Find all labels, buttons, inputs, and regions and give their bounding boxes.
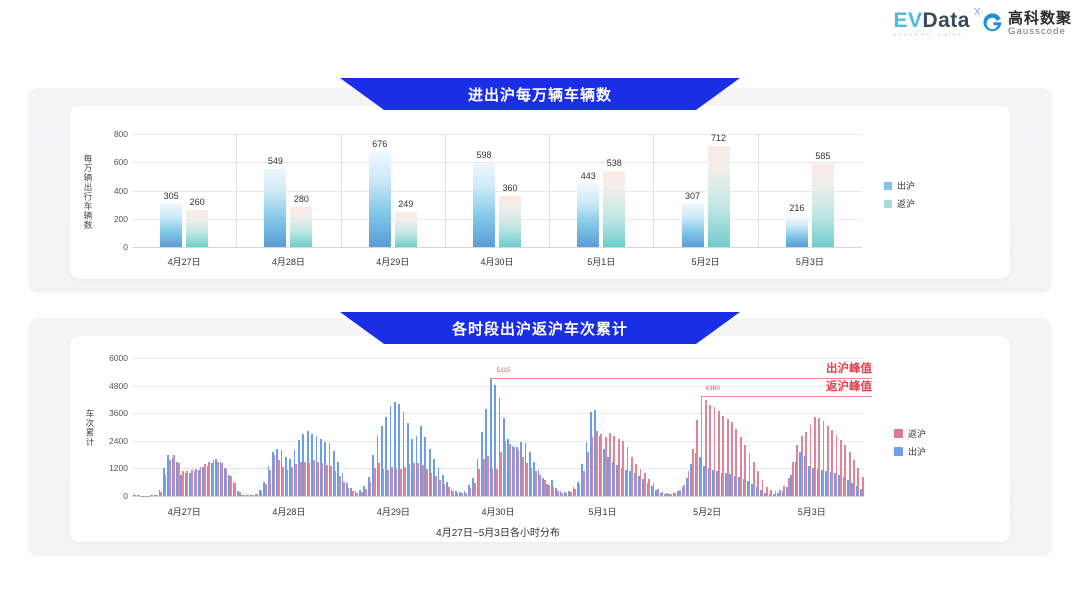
chart2-x-tick-label: 5月3日: [798, 505, 826, 518]
chart2-bar-return: [683, 485, 685, 496]
chart2-bar-return: [561, 493, 563, 496]
chart2-legend: 返沪出沪: [894, 427, 926, 458]
chart2-bar-return: [757, 471, 759, 496]
chart2-bar-return: [714, 407, 716, 496]
chart2-bar-return: [701, 396, 703, 496]
chart2-bar-return: [618, 439, 620, 497]
chart1-legend: 出沪返沪: [884, 179, 915, 210]
chart2-bar-return: [217, 462, 219, 497]
chart1-legend-item[interactable]: 出沪: [884, 179, 915, 192]
chart1-bar-value-label: 443: [581, 171, 596, 181]
chart1-category-separator: [758, 134, 759, 247]
chart1-bar-return: [499, 196, 521, 247]
chart2-y-tick-label: 0: [96, 491, 128, 501]
evdata-wordmark: EVDatax: [893, 10, 970, 31]
chart-panel-2: 车次累计0120024003600480060004月27日4月28日4月29日…: [70, 336, 1010, 542]
chart1-bar-value-label: 305: [164, 191, 179, 201]
chart2-bar-return: [531, 468, 533, 496]
chart2-bar-return: [727, 419, 729, 496]
chart2-annotation-label: 出沪峰值: [826, 360, 872, 376]
chart2-bar-return: [583, 471, 585, 496]
chart2-bar-return: [435, 476, 437, 496]
chart2-bar-return: [295, 464, 297, 496]
chart1-bar-value-label: 249: [398, 199, 413, 209]
chart1-bar-return: [812, 164, 834, 247]
chart1-y-axis-label: 每万辆出行车辆数: [82, 140, 94, 243]
chart2-bar-return: [239, 492, 241, 496]
chart1-legend-label: 返沪: [897, 197, 915, 210]
chart2-bar-return: [666, 493, 668, 496]
chart1-bar-value-label: 216: [789, 203, 804, 213]
evdata-tagline: SHANGHAI CHINA: [893, 33, 963, 38]
chart2-bar-return: [526, 463, 528, 496]
chart1-bar-return: [708, 146, 730, 247]
chart2-bar-return: [208, 462, 210, 497]
chart2-bar-return: [165, 475, 167, 496]
chart-panel-1: 每万辆出行车辆数02004006008003052604月27日5492804月…: [70, 106, 1010, 279]
chart2-bar-return: [391, 467, 393, 496]
chart1-y-tick-label: 800: [98, 129, 128, 139]
chart1-bar-value-label: 260: [190, 197, 205, 207]
chart2-bar-return: [483, 459, 485, 496]
chart1-x-tick-label: 4月27日: [168, 255, 201, 268]
chart2-bar-return: [796, 445, 798, 496]
chart2-bar-return: [613, 436, 615, 496]
chart2-bar-return: [282, 467, 284, 496]
chart2-bar-return: [705, 400, 707, 496]
chart2-bar-return: [221, 463, 223, 496]
header-logo-bar: EVDatax SHANGHAI CHINA 高科数聚 Gausscode: [893, 10, 1072, 38]
chart1-bar-outbound: [264, 169, 286, 247]
gausscode-cn-name: 高科数聚: [1008, 11, 1072, 27]
chart2-y-tick-label: 3600: [96, 408, 128, 418]
chart1-bar-outbound: [473, 163, 495, 247]
chart2-bar-return: [444, 484, 446, 496]
chart1-gridline: [132, 219, 862, 220]
chart1-bar-return: [603, 171, 625, 247]
chart2-bar-return: [788, 478, 790, 496]
chart1-gridline: [132, 191, 862, 192]
gausscode-text: 高科数聚 Gausscode: [1008, 11, 1072, 37]
card-outbound-per-10k: 每万辆出行车辆数02004006008003052604月27日5492804月…: [28, 88, 1052, 293]
chart2-bar-return: [762, 480, 764, 496]
gausscode-logo: 高科数聚 Gausscode: [982, 11, 1072, 37]
chart2-bar-return: [452, 491, 454, 496]
chart2-bar-return: [674, 493, 676, 496]
chart2-bar-return: [304, 462, 306, 497]
chart2-bar-return: [831, 430, 833, 496]
chart2-bar-return: [326, 465, 328, 496]
chart2-x-tick-label: 4月27日: [168, 505, 201, 518]
chart1-bar-value-label: 280: [294, 194, 309, 204]
chart1-y-tick-label: 200: [98, 214, 128, 224]
chart2-bar-return: [539, 475, 541, 496]
chart1-bar-return: [186, 210, 208, 247]
chart2-bar-return: [587, 452, 589, 496]
evdata-logo: EVDatax SHANGHAI CHINA: [893, 10, 970, 38]
chart2-bar-return: [770, 490, 772, 496]
chart2-legend-label: 返沪: [908, 427, 926, 440]
chart2-gridline: [132, 358, 864, 359]
chart2-bar-return: [413, 463, 415, 496]
chart1-category-separator: [549, 134, 550, 247]
chart2-y-tick-label: 6000: [96, 353, 128, 363]
chart1-category-separator: [341, 134, 342, 247]
chart1-x-tick-label: 5月3日: [796, 255, 824, 268]
chart2-bar-return: [265, 484, 267, 496]
chart2-bar-return: [343, 482, 345, 496]
chart2-bar-return: [579, 484, 581, 496]
evdata-main-text: Data: [922, 9, 970, 32]
chart1-bar-outbound: [160, 204, 182, 247]
gausscode-mark-icon: [982, 13, 1003, 34]
chart1-gridline: [132, 162, 862, 163]
chart2-bar-return: [696, 420, 698, 496]
chart2-bar-return: [810, 425, 812, 496]
chart2-bar-return: [230, 476, 232, 496]
chart2-bar-return: [805, 432, 807, 496]
chart2-bar-return: [600, 434, 602, 496]
chart2-bar-return: [269, 470, 271, 496]
chart2-bar-return: [396, 468, 398, 496]
chart2-bar-return: [287, 470, 289, 496]
chart2-bar-return: [749, 453, 751, 496]
chart2-bar-return: [827, 426, 829, 496]
chart1-bar-value-label: 598: [476, 150, 491, 160]
chart2-bar-return: [439, 480, 441, 496]
chart1-bar-outbound: [577, 184, 599, 247]
chart2-bar-return: [178, 463, 180, 496]
chart2-bar-return: [317, 462, 319, 496]
chart2-bar-return: [173, 455, 175, 496]
chart2-bar-return: [361, 492, 363, 496]
chart2-bar-return: [801, 436, 803, 496]
chart1-gridline: [132, 247, 862, 248]
chart2-gridline: [132, 496, 864, 497]
chart2-bar-return: [191, 470, 193, 496]
chart2-bar-return: [261, 491, 263, 496]
chart2-bar-return: [844, 445, 846, 496]
gausscode-en-name: Gausscode: [1008, 27, 1072, 37]
chart1-category-separator: [445, 134, 446, 247]
chart1-x-tick-label: 4月28日: [272, 255, 305, 268]
chart2-bar-return: [836, 435, 838, 496]
chart2-bar-return: [278, 460, 280, 496]
chart1-bar-return: [395, 212, 417, 247]
chart2-annotation-value: 5115: [496, 367, 510, 374]
chart2-bar-return: [313, 460, 315, 496]
chart-hourly-cumulative: 车次累计0120024003600480060004月27日4月28日4月29日…: [70, 336, 1010, 542]
chart2-bar-return: [387, 470, 389, 496]
chart2-bar-return: [457, 493, 459, 496]
chart-title-2: 各时段出沪返沪车次累计: [452, 318, 628, 339]
chart2-x-tick-label: 4月28日: [272, 505, 305, 518]
chart2-annotation-line: [491, 378, 872, 379]
chart2-bar-return: [722, 416, 724, 497]
chart2-bar-return: [404, 467, 406, 496]
chart2-bar-return: [840, 440, 842, 496]
chart2-bar-return: [818, 418, 820, 496]
chart1-bar-outbound: [682, 204, 704, 247]
chart1-legend-swatch: [884, 182, 892, 190]
chart2-bar-return: [753, 462, 755, 497]
chart2-bar-return: [356, 493, 358, 496]
chart-title-banner-2: 各时段出沪返沪车次累计: [340, 312, 740, 344]
chart1-x-tick-label: 4月30日: [480, 255, 513, 268]
chart2-bar-return: [657, 489, 659, 496]
chart2-bar-return: [335, 471, 337, 496]
chart2-bar-return: [670, 494, 672, 496]
chart2-bar-return: [627, 447, 629, 496]
chart2-bar-return: [430, 473, 432, 496]
chart2-bar-return: [505, 441, 507, 496]
chart1-x-tick-label: 4月29日: [376, 255, 409, 268]
chart2-bar-return: [474, 483, 476, 496]
chart2-bar-return: [374, 468, 376, 496]
chart1-bar-value-label: 585: [815, 151, 830, 161]
chart2-bar-return: [544, 480, 546, 496]
chart2-bar-return: [709, 405, 711, 496]
chart2-bar-return: [548, 485, 550, 496]
chart2-bar-return: [330, 466, 332, 496]
chart2-bar-return: [213, 460, 215, 496]
chart2-bar-return: [461, 493, 463, 496]
chart1-y-tick-label: 400: [98, 186, 128, 196]
chart1-bar-value-label: 360: [502, 183, 517, 193]
chart2-bar-return: [300, 462, 302, 497]
chart1-bar-value-label: 307: [685, 191, 700, 201]
chart2-x-tick-label: 4月30日: [481, 505, 514, 518]
chart2-bar-return: [448, 487, 450, 496]
chart2-bar-return: [487, 456, 489, 496]
chart1-bar-value-label: 676: [372, 139, 387, 149]
chart2-bar-return: [653, 483, 655, 496]
chart2-x-tick-label: 5月1日: [589, 505, 617, 518]
chart2-gridline: [132, 386, 864, 387]
chart2-bar-return: [422, 465, 424, 496]
chart2-bar-return: [692, 449, 694, 496]
chart2-bar-return: [243, 495, 245, 496]
chart-title-banner-1: 进出沪每万辆车辆数: [340, 78, 740, 110]
chart2-bar-return: [348, 488, 350, 496]
chart2-bar-return: [365, 489, 367, 496]
chart2-bar-return: [400, 469, 402, 496]
chart2-annotation-line: [701, 396, 872, 397]
chart2-bar-return: [740, 437, 742, 496]
chart2-bar-return: [718, 411, 720, 496]
chart2-annotation-value: 4360: [705, 385, 719, 392]
chart2-bar-return: [522, 457, 524, 496]
chart2-bar-return: [552, 487, 554, 496]
chart1-bar-outbound: [786, 217, 808, 248]
chart2-bar-return: [409, 464, 411, 496]
chart2-bar-return: [509, 444, 511, 496]
chart2-bar-return: [169, 460, 171, 496]
chart2-bar-return: [688, 471, 690, 496]
chart2-bar-return: [783, 486, 785, 496]
chart-title-1: 进出沪每万辆车辆数: [468, 84, 612, 105]
chart2-legend-label: 出沪: [908, 445, 926, 458]
chart2-bar-return: [234, 483, 236, 496]
chart2-bar-return: [308, 463, 310, 496]
chart2-bar-return: [535, 471, 537, 496]
chart2-bar-return: [186, 471, 188, 496]
chart2-bar-return: [417, 463, 419, 496]
chart2-bar-return: [478, 469, 480, 496]
chart2-bar-return: [605, 437, 607, 496]
chart2-bar-return: [200, 467, 202, 496]
chart2-bar-return: [574, 489, 576, 496]
chart2-bar-return: [322, 463, 324, 496]
chart2-bar-return: [731, 422, 733, 496]
chart2-bar-return: [735, 429, 737, 496]
chart2-bar-return: [622, 441, 624, 496]
chart2-bar-return: [609, 433, 611, 496]
chart1-bar-outbound: [369, 152, 391, 247]
chart1-legend-item[interactable]: 返沪: [884, 197, 915, 210]
chart2-bar-return: [853, 460, 855, 496]
chart2-bar-return: [661, 492, 663, 496]
chart2-bar-return: [513, 447, 515, 496]
chart1-y-tick-label: 600: [98, 157, 128, 167]
chart2-bar-return: [247, 495, 249, 496]
chart2-x-tick-label: 4月29日: [377, 505, 410, 518]
chart2-bar-return: [152, 495, 154, 496]
chart2-bar-return: [378, 463, 380, 496]
chart1-bar-value-label: 538: [607, 158, 622, 168]
chart2-legend-swatch: [894, 447, 903, 456]
chart2-legend-item[interactable]: 出沪: [894, 445, 926, 458]
chart1-x-tick-label: 5月2日: [692, 255, 720, 268]
chart2-bar-return: [252, 495, 254, 496]
chart2-bar-return: [369, 482, 371, 496]
chart2-bar-return: [596, 431, 598, 496]
chart2-bar-return: [291, 467, 293, 496]
chart2-bar-return: [814, 417, 816, 496]
chart2-bar-return: [566, 493, 568, 496]
chart2-annotation-label: 返沪峰值: [826, 378, 872, 394]
chart-outbound-per-10k: 每万辆出行车辆数02004006008003052604月27日5492804月…: [70, 106, 1010, 279]
chart2-bar-return: [339, 476, 341, 496]
chart1-y-tick-label: 0: [98, 242, 128, 252]
chart1-bar-value-label: 712: [711, 133, 726, 143]
chart1-category-separator: [653, 134, 654, 247]
chart2-bar-return: [631, 457, 633, 496]
chart1-bar-return: [290, 207, 312, 247]
card-hourly-cumulative: 车次累计0120024003600480060004月27日4月28日4月29日…: [28, 318, 1052, 556]
chart2-bar-return: [496, 469, 498, 496]
chart2-bar-return: [635, 464, 637, 496]
chart1-category-separator: [236, 134, 237, 247]
chart1-legend-label: 出沪: [897, 179, 915, 192]
chart2-bar-return: [766, 487, 768, 496]
chart2-bar-return: [775, 491, 777, 496]
chart2-bar-return: [570, 492, 572, 496]
chart2-y-tick-label: 4800: [96, 381, 128, 391]
chart2-bar-return: [139, 495, 141, 496]
chart2-y-tick-label: 2400: [96, 436, 128, 446]
chart2-bar-return: [274, 455, 276, 496]
chart2-bar-return: [500, 452, 502, 496]
chart2-bar-return: [182, 471, 184, 496]
evdata-superscript-icon: x: [974, 4, 981, 17]
chart2-bar-return: [679, 490, 681, 496]
chart2-bar-return: [160, 492, 162, 496]
chart2-bar-return: [195, 469, 197, 496]
evdata-prefix: EV: [893, 9, 922, 32]
chart2-bar-return: [640, 469, 642, 496]
chart2-y-axis-label: 车次累计: [84, 364, 96, 492]
chart2-bar-return: [849, 452, 851, 496]
chart2-bar-return: [644, 473, 646, 496]
chart2-bar-return: [592, 437, 594, 496]
chart2-bar-return: [352, 491, 354, 496]
chart2-bar-return: [857, 468, 859, 496]
chart2-x-tick-label: 5月2日: [693, 505, 721, 518]
chart2-legend-item[interactable]: 返沪: [894, 427, 926, 440]
chart2-bar-return: [648, 479, 650, 496]
chart2-bar-return: [557, 491, 559, 496]
chart2-bar-return: [383, 469, 385, 496]
chart2-bar-return: [204, 464, 206, 496]
chart1-legend-swatch: [884, 200, 892, 208]
chart1-gridline: [132, 134, 862, 135]
chart2-bar-return: [862, 477, 864, 496]
chart2-bar-return: [470, 488, 472, 496]
chart2-bar-return: [426, 469, 428, 496]
chart2-bar-return: [779, 490, 781, 496]
chart2-bar-return: [226, 469, 228, 496]
chart2-y-tick-label: 1200: [96, 463, 128, 473]
chart2-bar-return: [518, 450, 520, 496]
chart2-bar-return: [792, 462, 794, 497]
chart2-bar-return: [134, 495, 136, 496]
chart2-bar-return: [465, 493, 467, 496]
chart2-bar-return: [256, 494, 258, 496]
chart2-bar-return: [744, 445, 746, 496]
chart2-bar-return: [823, 421, 825, 496]
chart1-bar-value-label: 549: [268, 156, 283, 166]
chart2-x-axis-subtitle: 4月27日~5月3日各小时分布: [436, 524, 560, 539]
chart2-bar-return: [156, 495, 158, 496]
chart1-x-tick-label: 5月1日: [587, 255, 615, 268]
chart2-legend-swatch: [894, 429, 903, 438]
chart2-bar-return: [491, 468, 493, 496]
